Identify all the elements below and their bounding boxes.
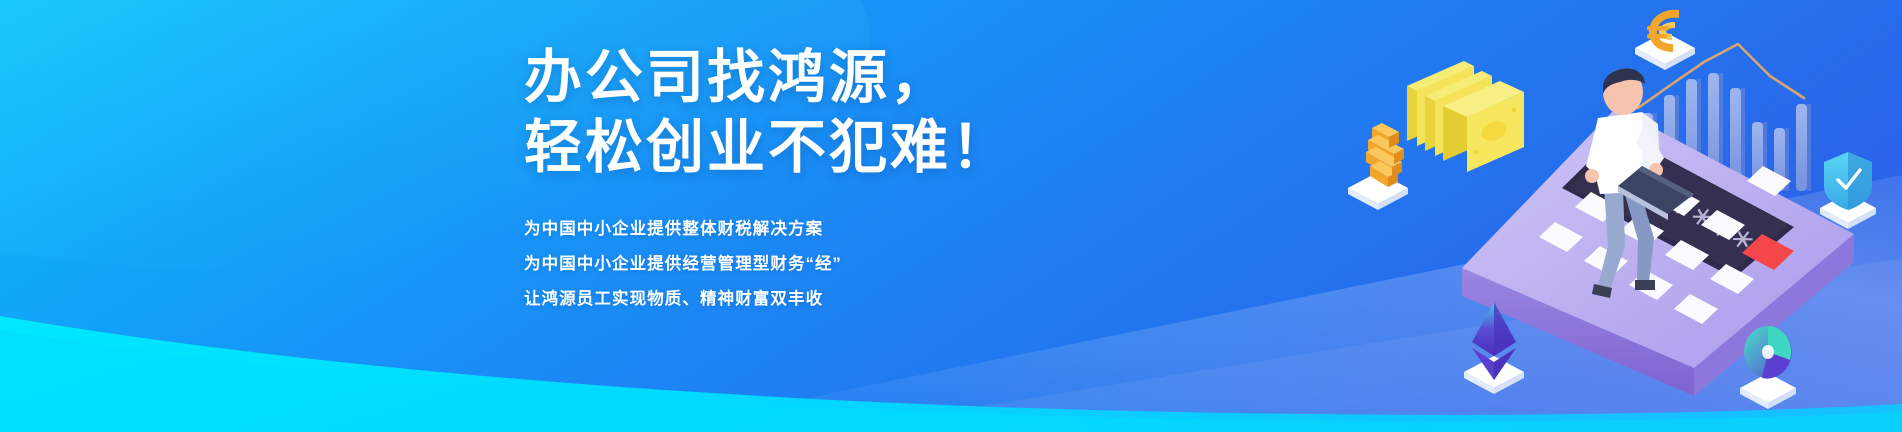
headline-line-1: 办公司找鸿源， xyxy=(524,44,1044,112)
pie-chart-icon xyxy=(1740,326,1796,409)
shield-icon xyxy=(1820,152,1876,229)
headline-line-2: 轻松创业不犯难！ xyxy=(524,114,1044,182)
banner-copy: 办公司找鸿源， 轻松创业不犯难！ 为中国中小企业提供整体财税解决方案 为中国中小… xyxy=(524,44,1044,317)
subtitle-line-2: 为中国中小企业提供经营管理型财务“经” xyxy=(524,247,1044,282)
dollar-coin-stack-icon xyxy=(1348,123,1408,210)
finance-illustration: ＊ ＊ ＊ ＊ ＊ xyxy=(1342,0,1902,432)
subtitle-line-1: 为中国中小企业提供整体财税解决方案 xyxy=(524,212,1044,247)
subtitle-list: 为中国中小企业提供整体财税解决方案 为中国中小企业提供经营管理型财务“经” 让鸿… xyxy=(524,212,1044,317)
subtitle-line-3: 让鸿源员工实现物质、精神财富双丰收 xyxy=(524,282,1044,317)
headline: 办公司找鸿源， 轻松创业不犯难！ xyxy=(524,44,1044,182)
euro-symbol-icon xyxy=(1635,10,1695,70)
banknotes-icon xyxy=(1407,61,1524,172)
promo-banner: 办公司找鸿源， 轻松创业不犯难！ 为中国中小企业提供整体财税解决方案 为中国中小… xyxy=(0,0,1902,432)
